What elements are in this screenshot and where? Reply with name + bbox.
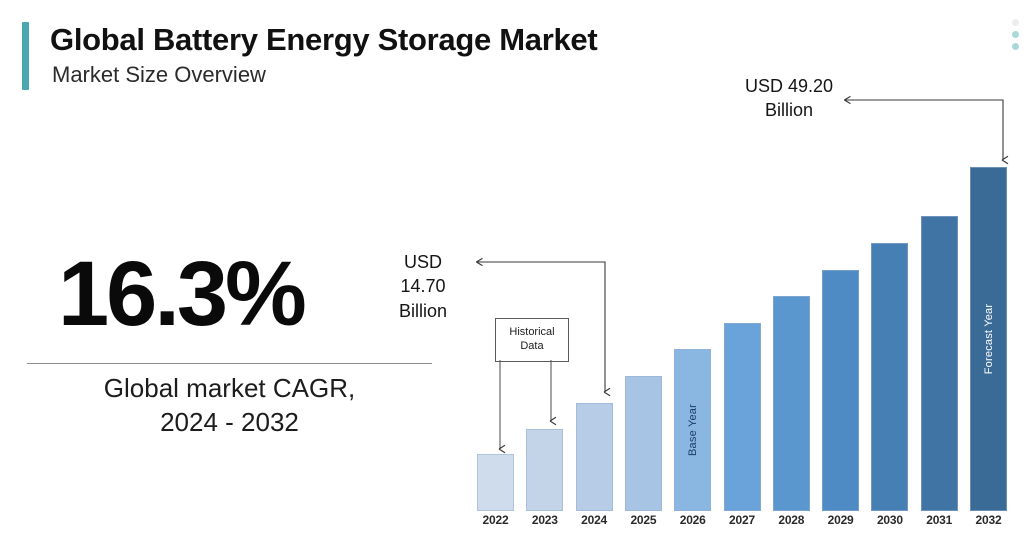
bar-2028 [773,296,810,511]
bar-2026: Base Year [674,349,711,511]
bar-2027 [724,323,761,511]
bar-label-forecast-year: Forecast Year [983,304,995,374]
infographic-canvas: Global Battery Energy Storage Market Mar… [0,0,1024,559]
x-tick-2029: 2029 [822,513,859,527]
x-tick-2024: 2024 [576,513,613,527]
x-tick-2026: 2026 [674,513,711,527]
x-tick-2023: 2023 [526,513,563,527]
x-tick-2022: 2022 [477,513,514,527]
bar-label-base-year: Base Year [687,404,699,456]
bar-2022 [477,454,514,511]
x-tick-2028: 2028 [773,513,810,527]
bar-2023 [526,429,563,511]
bar-chart: 2022202320242025Base Year202620272028202… [0,0,1024,559]
bar-2029 [822,270,859,512]
x-tick-2031: 2031 [921,513,958,527]
bar-2025 [625,376,662,511]
x-tick-2027: 2027 [724,513,761,527]
x-tick-2030: 2030 [871,513,908,527]
bar-2031 [921,216,958,511]
x-tick-2032: 2032 [970,513,1007,527]
x-tick-2025: 2025 [625,513,662,527]
bar-2030 [871,243,908,511]
bar-2024 [576,403,613,511]
bar-2032: Forecast Year [970,167,1007,511]
